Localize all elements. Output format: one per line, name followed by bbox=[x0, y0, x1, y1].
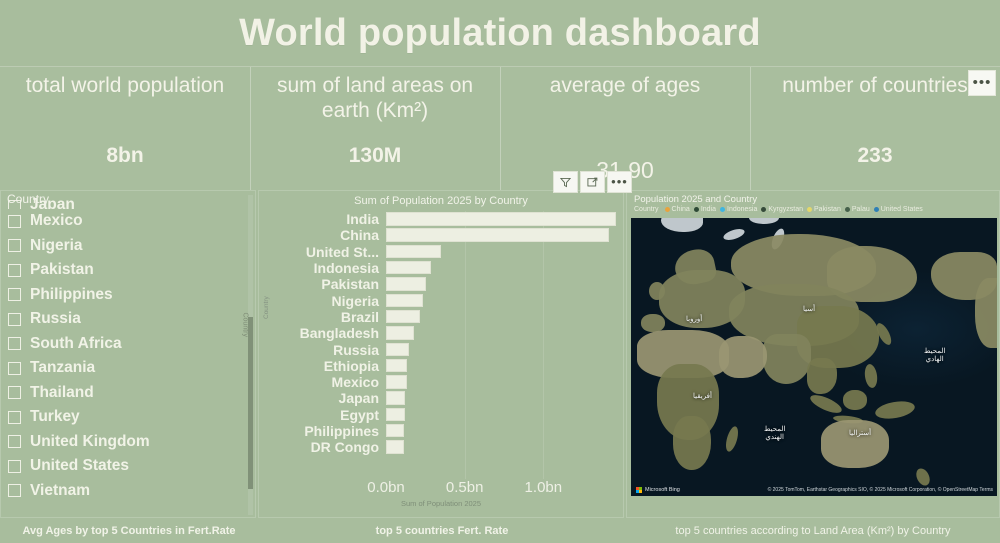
more-options-label: ••• bbox=[611, 178, 628, 186]
footer-title-fert-rate[interactable]: top 5 countries Fert. Rate bbox=[258, 518, 626, 543]
slicer-item-label: Thailand bbox=[30, 384, 94, 402]
slicer-field-label: Country bbox=[242, 312, 249, 337]
bar-category-label: Egypt bbox=[274, 407, 386, 423]
slicer-item-turkey[interactable]: Turkey bbox=[1, 405, 247, 430]
map-title: Population 2025 and Country bbox=[634, 194, 757, 205]
map-legend-item-label: Kyrgyzstan bbox=[768, 206, 803, 213]
bar-chart-x-axis-title: Sum of Population 2025 bbox=[259, 499, 623, 508]
bar-row[interactable]: China bbox=[274, 227, 622, 243]
bar-fill[interactable] bbox=[386, 359, 407, 372]
kpi-label: average of ages bbox=[550, 74, 701, 99]
slicer-item-south-africa[interactable]: South Africa bbox=[1, 332, 247, 357]
map-legend-item-label: China bbox=[672, 206, 690, 213]
bar-fill[interactable] bbox=[386, 343, 409, 356]
population-map[interactable]: Population 2025 and Country Country Chin… bbox=[626, 190, 1000, 518]
visual-header-toolbar: ••• bbox=[553, 171, 632, 193]
bar-row[interactable]: Ethiopia bbox=[274, 358, 622, 374]
slicer-item-thailand[interactable]: Thailand bbox=[1, 381, 247, 406]
map-legend-item-indonesia[interactable]: Indonesia bbox=[720, 206, 757, 213]
slicer-list: JapanMexicoNigeriaPakistanPhilippinesRus… bbox=[1, 195, 247, 503]
bar-row[interactable]: Indonesia bbox=[274, 260, 622, 276]
map-legend-item-china[interactable]: China bbox=[665, 206, 690, 213]
bar-fill[interactable] bbox=[386, 261, 431, 274]
bar-row[interactable]: Japan bbox=[274, 390, 622, 406]
map-geo-label: أوروبا bbox=[686, 316, 702, 324]
slicer-item-label: Turkey bbox=[30, 408, 80, 426]
kpi-value: 130M bbox=[349, 144, 402, 168]
map-attribution-left: Microsoft Bing bbox=[636, 487, 680, 493]
legend-swatch-icon bbox=[761, 207, 766, 212]
bar-category-label: Pakistan bbox=[274, 276, 386, 292]
slicer-item-label: United States bbox=[30, 457, 129, 475]
legend-swatch-icon bbox=[665, 207, 670, 212]
slicer-scrollbar[interactable] bbox=[248, 195, 253, 515]
map-legend-item-label: India bbox=[701, 206, 716, 213]
map-land-borneo bbox=[843, 390, 867, 410]
bing-logo-icon bbox=[636, 487, 642, 493]
map-geo-label: أسيا bbox=[803, 306, 815, 314]
bar-chart-title: Sum of Population 2025 by Country bbox=[259, 195, 623, 207]
bar-row[interactable]: India bbox=[274, 211, 622, 227]
bar-track bbox=[386, 276, 622, 292]
checkbox-icon[interactable] bbox=[8, 362, 21, 375]
map-canvas[interactable]: أوروباأسياأفريقياالمحيط الهاديالمحيط اله… bbox=[631, 218, 997, 496]
bar-fill[interactable] bbox=[386, 228, 609, 241]
bar-track bbox=[386, 341, 622, 357]
bar-category-label: Philippines bbox=[274, 423, 386, 439]
checkbox-icon[interactable] bbox=[8, 215, 21, 228]
bar-category-label: Brazil bbox=[274, 309, 386, 325]
slicer-item-label: South Africa bbox=[30, 335, 122, 353]
checkbox-icon[interactable] bbox=[8, 288, 21, 301]
kpi-card-sum-of-land-areas[interactable]: sum of land areas on earth (Km²) 130M bbox=[250, 67, 500, 190]
map-legend-item-palau[interactable]: Palau bbox=[845, 206, 870, 213]
bar-category-label: Ethiopia bbox=[274, 358, 386, 374]
checkbox-icon[interactable] bbox=[8, 411, 21, 424]
slicer-item-mexico[interactable]: Mexico bbox=[1, 209, 247, 234]
kpi-value: 233 bbox=[857, 144, 892, 168]
bar-track bbox=[386, 292, 622, 308]
slicer-item-tanzania[interactable]: Tanzania bbox=[1, 356, 247, 381]
legend-swatch-icon bbox=[720, 207, 725, 212]
bar-chart-x-axis: 0.0bn0.5bn1.0bn bbox=[386, 479, 622, 501]
map-geo-label: أستراليا bbox=[849, 430, 871, 438]
map-legend-field: Country bbox=[634, 206, 659, 213]
country-slicer[interactable]: Country JapanMexicoNigeriaPakistanPhilip… bbox=[0, 190, 256, 518]
bar-row[interactable]: Egypt bbox=[274, 407, 622, 423]
footer-visual-titles: Avg Ages by top 5 Countries in Fert.Rate… bbox=[0, 518, 1000, 543]
checkbox-icon[interactable] bbox=[8, 239, 21, 252]
bar-track bbox=[386, 325, 622, 341]
legend-swatch-icon bbox=[845, 207, 850, 212]
map-legend-item-india[interactable]: India bbox=[694, 206, 716, 213]
kpi-label: sum of land areas on earth (Km²) bbox=[260, 74, 490, 124]
bar-fill[interactable] bbox=[386, 245, 441, 258]
bar-track bbox=[386, 439, 622, 455]
population-bar-chart[interactable]: Sum of Population 2025 by Country Countr… bbox=[258, 190, 624, 518]
page-more-options-label: ••• bbox=[973, 79, 992, 87]
map-legend-item-label: United States bbox=[881, 206, 923, 213]
bar-category-label: United St... bbox=[274, 244, 386, 260]
focus-mode-icon[interactable] bbox=[580, 171, 605, 193]
kpi-card-total-world-population[interactable]: total world population 8bn bbox=[0, 67, 250, 190]
kpi-label: number of countries bbox=[782, 74, 968, 99]
map-geo-label: المحيط الهندي bbox=[764, 426, 785, 442]
slicer-item-philippines[interactable]: Philippines bbox=[1, 283, 247, 308]
bar-track bbox=[386, 358, 622, 374]
x-axis-tick-label: 1.0bn bbox=[525, 479, 563, 496]
x-axis-tick-label: 0.5bn bbox=[446, 479, 484, 496]
legend-swatch-icon bbox=[807, 207, 812, 212]
checkbox-icon[interactable] bbox=[8, 460, 21, 473]
slicer-scrollbar-thumb[interactable] bbox=[248, 317, 253, 489]
slicer-item-russia[interactable]: Russia bbox=[1, 307, 247, 332]
kpi-strip: total world population 8bn sum of land a… bbox=[0, 66, 1000, 190]
bar-track bbox=[386, 309, 622, 325]
bar-fill[interactable] bbox=[386, 375, 407, 388]
map-geo-label: أفريقيا bbox=[693, 393, 712, 401]
map-attribution-left-text: Microsoft Bing bbox=[645, 487, 680, 493]
bar-track bbox=[386, 244, 622, 260]
map-legend: Country ChinaIndiaIndonesiaKyrgyzstanPak… bbox=[634, 206, 923, 213]
bar-row[interactable]: Brazil bbox=[274, 309, 622, 325]
bar-chart-y-axis-title: Country bbox=[263, 296, 270, 319]
bar-fill[interactable] bbox=[386, 277, 426, 290]
legend-swatch-icon bbox=[694, 207, 699, 212]
bar-row[interactable]: Philippines bbox=[274, 423, 622, 439]
dashboard-header: World population dashboard bbox=[0, 0, 1000, 66]
bar-fill[interactable] bbox=[386, 391, 405, 404]
map-land-north-america-edge bbox=[975, 278, 997, 348]
bar-category-label: Bangladesh bbox=[274, 325, 386, 341]
bar-track bbox=[386, 423, 622, 439]
bar-track bbox=[386, 211, 622, 227]
bar-category-label: Nigeria bbox=[274, 293, 386, 309]
checkbox-icon[interactable] bbox=[8, 386, 21, 399]
bar-fill[interactable] bbox=[386, 408, 405, 421]
bar-track bbox=[386, 407, 622, 423]
footer-title-avg-ages[interactable]: Avg Ages by top 5 Countries in Fert.Rate bbox=[0, 518, 258, 543]
kpi-label: total world population bbox=[26, 74, 224, 99]
map-legend-item-label: Palau bbox=[852, 206, 870, 213]
bar-row[interactable]: Nigeria bbox=[274, 292, 622, 308]
slicer-item-label: Tanzania bbox=[30, 359, 95, 377]
bar-row[interactable]: Pakistan bbox=[274, 276, 622, 292]
map-legend-item-kyrgyzstan[interactable]: Kyrgyzstan bbox=[761, 206, 803, 213]
map-land-british-isles bbox=[649, 282, 665, 300]
bar-fill[interactable] bbox=[386, 310, 420, 323]
map-legend-item-united-states[interactable]: United States bbox=[874, 206, 923, 213]
slicer-item-label: Mexico bbox=[30, 212, 83, 230]
slicer-item-label: United Kingdom bbox=[30, 433, 150, 451]
bar-category-label: Indonesia bbox=[274, 260, 386, 276]
bar-fill[interactable] bbox=[386, 440, 404, 453]
bar-category-label: Russia bbox=[274, 342, 386, 358]
slicer-item-united-states[interactable]: United States bbox=[1, 454, 247, 479]
checkbox-icon[interactable] bbox=[8, 337, 21, 350]
bar-track bbox=[386, 260, 622, 276]
filter-icon[interactable] bbox=[553, 171, 578, 193]
bar-category-label: DR Congo bbox=[274, 439, 386, 455]
bar-track bbox=[386, 390, 622, 406]
slicer-item-label: Pakistan bbox=[30, 261, 94, 279]
bar-category-label: China bbox=[274, 227, 386, 243]
page-title: World population dashboard bbox=[239, 12, 761, 55]
kpi-card-number-of-countries[interactable]: number of countries 233 bbox=[750, 67, 1000, 190]
page-more-options-button[interactable]: ••• bbox=[968, 70, 996, 96]
map-geo-label: المحيط الهادي bbox=[924, 348, 945, 364]
map-legend-item-label: Pakistan bbox=[814, 206, 841, 213]
bar-fill[interactable] bbox=[386, 424, 404, 437]
bar-category-label: India bbox=[274, 211, 386, 227]
checkbox-icon[interactable] bbox=[8, 484, 21, 497]
map-legend-item-pakistan[interactable]: Pakistan bbox=[807, 206, 841, 213]
map-attribution-right: © 2025 TomTom, Earthstar Geographics SIO… bbox=[768, 487, 993, 493]
slicer-item-pakistan[interactable]: Pakistan bbox=[1, 258, 247, 283]
dashboard-body: Country JapanMexicoNigeriaPakistanPhilip… bbox=[0, 190, 1000, 518]
slicer-item-label: Philippines bbox=[30, 286, 113, 304]
checkbox-icon[interactable] bbox=[8, 313, 21, 326]
bar-row[interactable]: Bangladesh bbox=[274, 325, 622, 341]
slicer-item-label: Nigeria bbox=[30, 237, 83, 255]
checkbox-icon[interactable] bbox=[8, 435, 21, 448]
bar-fill[interactable] bbox=[386, 326, 414, 339]
kpi-value: 8bn bbox=[106, 144, 143, 168]
x-axis-tick-label: 0.0bn bbox=[367, 479, 405, 496]
bar-category-label: Japan bbox=[274, 390, 386, 406]
map-land-australia bbox=[821, 420, 889, 468]
checkbox-icon[interactable] bbox=[8, 264, 21, 277]
bar-track bbox=[386, 227, 622, 243]
slicer-item-vietnam[interactable]: Vietnam bbox=[1, 479, 247, 504]
bar-chart-plot: IndiaChinaUnited St...IndonesiaPakistanN… bbox=[274, 211, 622, 479]
slicer-item-label: Russia bbox=[30, 310, 81, 328]
bar-row[interactable]: United St... bbox=[274, 244, 622, 260]
bar-row[interactable]: Russia bbox=[274, 341, 622, 357]
map-legend-item-label: Indonesia bbox=[727, 206, 757, 213]
footer-title-land-area[interactable]: top 5 countries according to Land Area (… bbox=[626, 518, 1000, 543]
bar-track bbox=[386, 374, 622, 390]
more-options-icon[interactable]: ••• bbox=[607, 171, 632, 193]
bar-fill[interactable] bbox=[386, 212, 616, 225]
slicer-item-united-kingdom[interactable]: United Kingdom bbox=[1, 430, 247, 455]
slicer-title: Country bbox=[7, 192, 49, 206]
slicer-item-nigeria[interactable]: Nigeria bbox=[1, 234, 247, 259]
map-land-southern-africa bbox=[673, 416, 711, 470]
bar-row[interactable]: Mexico bbox=[274, 374, 622, 390]
slicer-item-label: Vietnam bbox=[30, 482, 90, 500]
bar-row[interactable]: DR Congo bbox=[274, 439, 622, 455]
dashboard-page: World population dashboard total world p… bbox=[0, 0, 1000, 543]
legend-swatch-icon bbox=[874, 207, 879, 212]
bar-category-label: Mexico bbox=[274, 374, 386, 390]
bar-fill[interactable] bbox=[386, 294, 423, 307]
